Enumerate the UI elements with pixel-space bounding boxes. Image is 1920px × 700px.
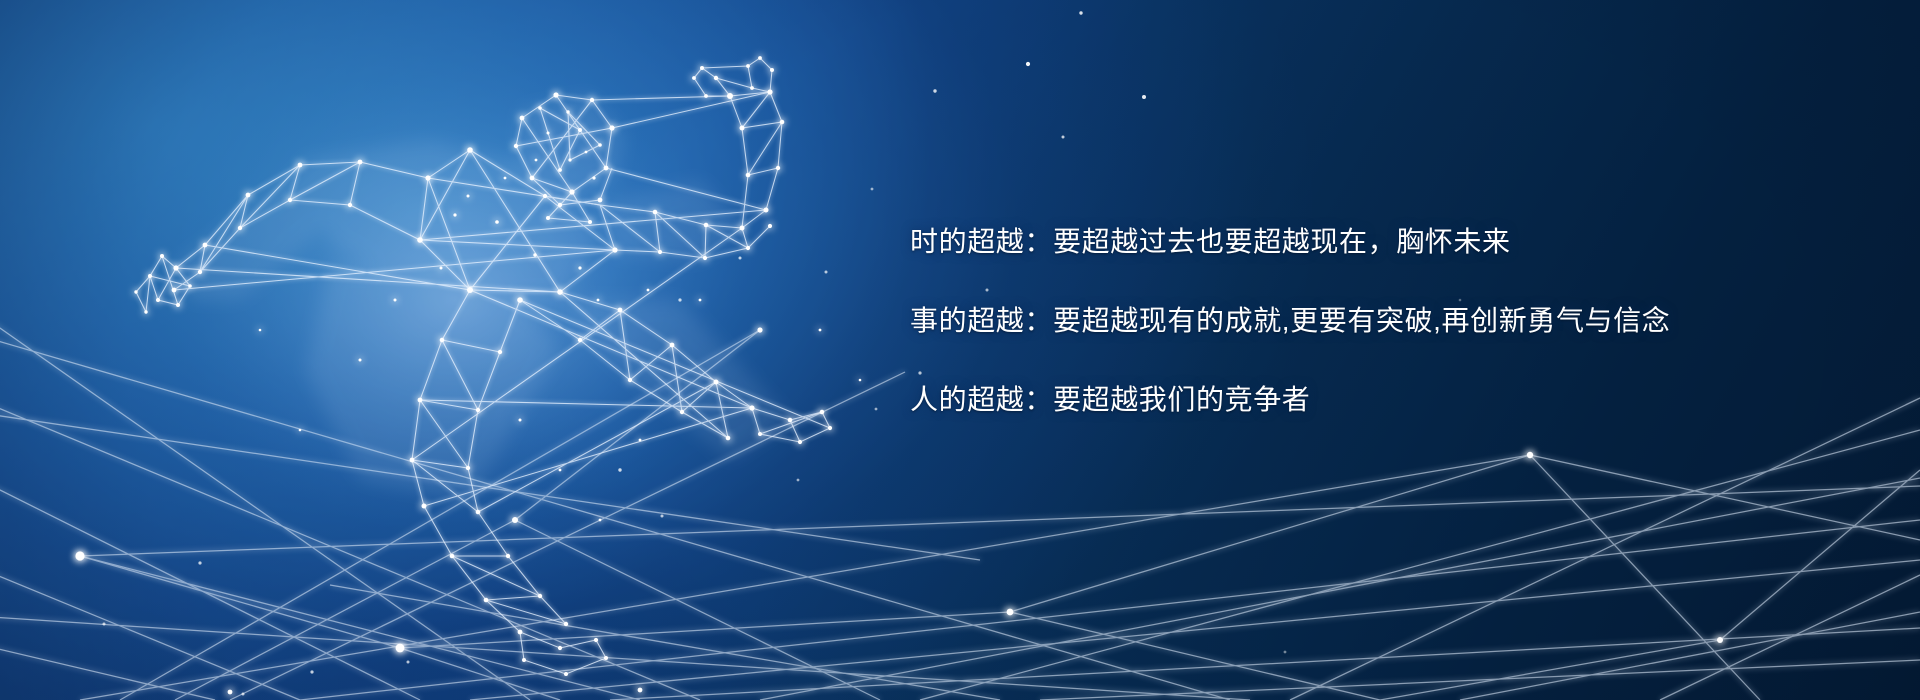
- slogan-line-3: 人的超越：要超越我们的竞争者: [910, 386, 1670, 414]
- runner-silhouette: [175, 95, 790, 500]
- slogan-line-1: 时的超越：要超越过去也要超越现在，胸怀未来: [910, 228, 1670, 256]
- slogan-line-2: 事的超越：要超越现有的成就,更要有突破,再创新勇气与信念: [910, 307, 1670, 335]
- slogan-text-block: 时的超越：要超越过去也要超越现在，胸怀未来 事的超越：要超越现有的成就,更要有突…: [910, 228, 1670, 414]
- runner-mesh-edges: [136, 58, 830, 674]
- hero-banner: 时的超越：要超越过去也要超越现在，胸怀未来 事的超越：要超越现有的成就,更要有突…: [0, 0, 1920, 700]
- runner-mesh-nodes: [134, 56, 861, 676]
- runner-halo: [165, 65, 745, 535]
